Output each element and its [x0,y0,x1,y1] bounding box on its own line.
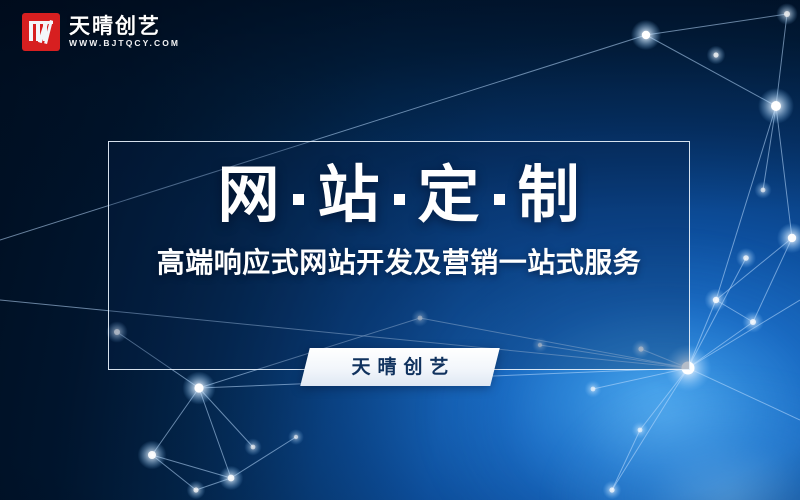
title-separator-dot [394,194,405,205]
network-node [761,188,766,193]
network-edge [646,14,787,35]
logo-mark-icon [22,13,60,51]
network-node [642,31,650,39]
title-char: 制 [518,165,581,227]
badge-label: 天晴创艺 [305,348,495,386]
network-node [771,101,781,111]
network-edge [776,106,792,238]
network-node [193,487,198,492]
network-node [743,255,749,261]
network-node [294,435,298,439]
logo-company-name: 天晴创艺 [69,16,180,37]
title-char: 网 [217,165,280,227]
network-node [228,475,235,482]
network-node [750,319,756,325]
hero-subtitle: 高端响应式网站开发及营销一站式服务 [157,249,642,277]
title-char: 站 [317,165,380,227]
network-node [713,52,718,57]
title-separator-dot [293,194,304,205]
title-separator-dot [494,194,505,205]
brand-badge[interactable]: 天晴创艺 [305,348,495,386]
hero-title: 网站定制 [217,165,580,227]
network-node [194,383,203,392]
network-edge [716,106,776,300]
hero-content: 网站定制 高端响应式网站开发及营销一站式服务 [108,141,690,370]
network-node [609,487,614,492]
network-node [148,451,156,459]
network-node [713,297,719,303]
network-node [638,428,643,433]
brand-logo[interactable]: 天晴创艺 WWW.BJTQCY.COM [22,13,180,51]
network-node [591,387,596,392]
network-node [784,11,790,17]
network-edge [646,35,776,106]
network-node [251,445,256,450]
network-node [788,234,796,242]
promo-banner: 天晴创艺 WWW.BJTQCY.COM 网站定制 高端响应式网站开发及营销一站式… [0,0,800,500]
logo-website-url: WWW.BJTQCY.COM [69,39,180,48]
logo-text-block: 天晴创艺 WWW.BJTQCY.COM [69,16,180,48]
network-edge [612,430,640,490]
title-char: 定 [418,165,481,227]
